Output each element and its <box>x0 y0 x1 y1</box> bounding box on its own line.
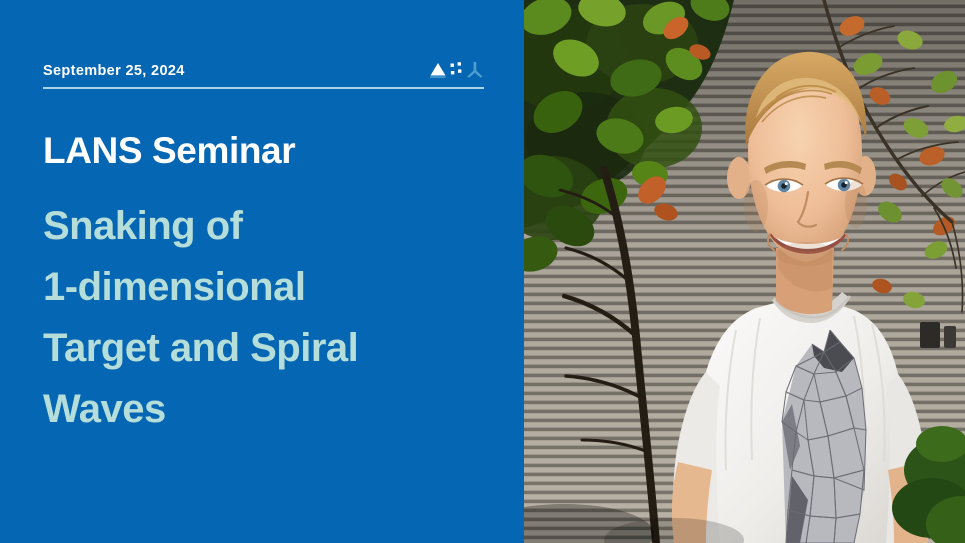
info-panel-content: September 25, 2024 <box>43 0 484 543</box>
seminar-series-title: LANS Seminar <box>43 128 484 174</box>
date-row: September 25, 2024 <box>43 62 484 92</box>
triangle-icon <box>430 63 446 78</box>
talk-title-line: Waves <box>43 379 484 440</box>
event-date: September 25, 2024 <box>43 62 185 81</box>
speaker-portrait-image <box>524 0 965 543</box>
speaker-portrait <box>524 0 965 543</box>
talk-title-line: 1-dimensional <box>43 257 484 318</box>
date-underline-rule <box>43 87 484 89</box>
argonne-logo-mark <box>429 60 484 82</box>
talk-title-line: Snaking of <box>43 196 484 257</box>
tripod-icon <box>467 62 482 78</box>
info-panel: September 25, 2024 <box>0 0 524 543</box>
talk-title: Snaking of 1-dimensional Target and Spir… <box>43 196 484 440</box>
seminar-announcement-card: September 25, 2024 <box>0 0 965 543</box>
four-dots-icon <box>451 62 462 74</box>
talk-title-line: Target and Spiral <box>43 318 484 379</box>
